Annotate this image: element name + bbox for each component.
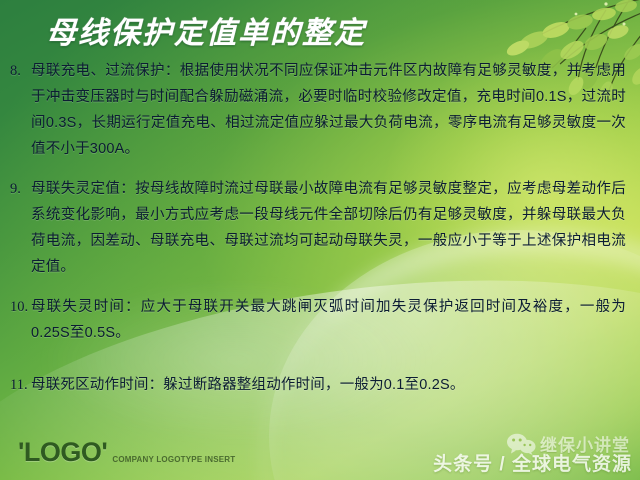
list-item-number: 9.	[10, 176, 31, 202]
bottom-watermark-label: 头条号 / 全球电气资源	[433, 449, 632, 476]
list-item-text: 母联失灵时间：应大于母联开关最大跳闸灭弧时间加失灵保护返回时间及裕度，一般为0.…	[31, 294, 626, 346]
content-list: 8. 母联充电、过流保护：根据使用状况不同应保证冲击元件区内故障有足够灵敏度，并…	[0, 58, 640, 412]
list-item-number: 8.	[10, 58, 31, 84]
list-item-text: 母联死区动作时间：躲过断路器整组动作时间，一般为0.1至0.2S。	[31, 372, 626, 398]
logo-subtitle-text: COMPANY LOGOTYPE INSERT	[112, 455, 235, 464]
list-item: 8. 母联充电、过流保护：根据使用状况不同应保证冲击元件区内故障有足够灵敏度，并…	[0, 58, 640, 162]
list-item-text: 母联充电、过流保护：根据使用状况不同应保证冲击元件区内故障有足够灵敏度，并考虑用…	[31, 58, 626, 162]
list-item: 9. 母联失灵定值：按母线故障时流过母联最小故障电流有足够灵敏度整定，应考虑母差…	[0, 176, 640, 280]
list-item-number: 11.	[10, 372, 31, 398]
wechat-watermark-label: 继保小讲堂	[540, 431, 630, 456]
list-item: 11. 母联死区动作时间：躲过断路器整组动作时间，一般为0.1至0.2S。	[0, 372, 640, 398]
page-title: 母线保护定值单的整定	[46, 8, 366, 52]
list-item: 10. 母联失灵时间：应大于母联开关最大跳闸灭弧时间加失灵保护返回时间及裕度，一…	[0, 294, 640, 346]
slide-canvas: 母线保护定值单的整定 8. 母联充电、过流保护：根据使用状况不同应保证冲击元件区…	[0, 0, 640, 480]
wechat-icon	[506, 433, 536, 455]
footer-logo: 'LOGO' COMPANY LOGOTYPE INSERT	[18, 439, 235, 466]
logo-mark-text: 'LOGO'	[18, 439, 107, 466]
list-item-number: 10.	[10, 294, 31, 320]
wechat-watermark: 继保小讲堂	[506, 431, 630, 456]
list-item-text: 母联失灵定值：按母线故障时流过母联最小故障电流有足够灵敏度整定，应考虑母差动作后…	[31, 176, 626, 280]
